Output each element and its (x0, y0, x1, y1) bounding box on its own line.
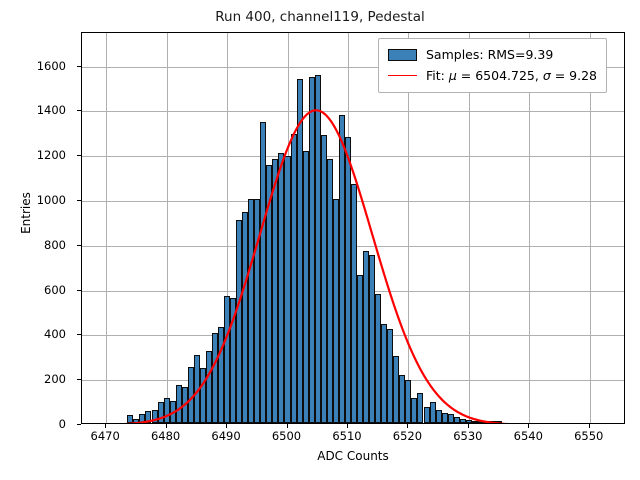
legend-label-fit: Fit: μ = 6504.725, σ = 9.28 (426, 68, 597, 83)
x-tick (589, 424, 590, 428)
y-axis-tick-labels: 02004006008001000120014001600 (0, 0, 74, 480)
figure: Run 400, channel119, Pedestal 0200400600… (0, 0, 640, 480)
legend-label-samples: Samples: RMS=9.39 (426, 47, 553, 62)
y-tick-label: 1000 (37, 193, 66, 207)
legend-item-samples: Samples: RMS=9.39 (388, 44, 597, 65)
y-tick-label: 400 (44, 327, 66, 341)
x-tick (468, 424, 469, 428)
y-tick (77, 424, 81, 425)
legend-line-icon (388, 75, 417, 76)
y-axis-label: Entries (19, 143, 33, 283)
x-tick-label: 6550 (554, 429, 624, 443)
y-tick-label: 800 (44, 238, 66, 252)
legend-fit-mu-value: = 6504.725, (457, 68, 543, 83)
y-tick-label: 1400 (37, 103, 66, 117)
x-tick (105, 424, 106, 428)
y-tick-label: 200 (44, 372, 66, 386)
legend-patch-icon (388, 49, 417, 61)
x-tick (226, 424, 227, 428)
legend-fit-mu-symbol: μ (449, 68, 457, 83)
x-tick (166, 424, 167, 428)
x-tick (528, 424, 529, 428)
legend-item-fit: Fit: μ = 6504.725, σ = 9.28 (388, 65, 597, 86)
x-tick (407, 424, 408, 428)
legend-fit-sigma-symbol: σ (543, 68, 551, 83)
legend-fit-sigma-value: = 9.28 (551, 68, 597, 83)
x-axis-label: ADC Counts (81, 449, 625, 463)
x-tick (347, 424, 348, 428)
x-tick (287, 424, 288, 428)
chart-title: Run 400, channel119, Pedestal (0, 9, 640, 25)
y-tick-label: 600 (44, 283, 66, 297)
chart-legend: Samples: RMS=9.39 Fit: μ = 6504.725, σ =… (378, 38, 607, 93)
y-tick-label: 0 (59, 417, 66, 431)
y-tick-label: 1200 (37, 148, 66, 162)
y-tick-label: 1600 (37, 59, 66, 73)
legend-fit-prefix: Fit: (426, 68, 449, 83)
